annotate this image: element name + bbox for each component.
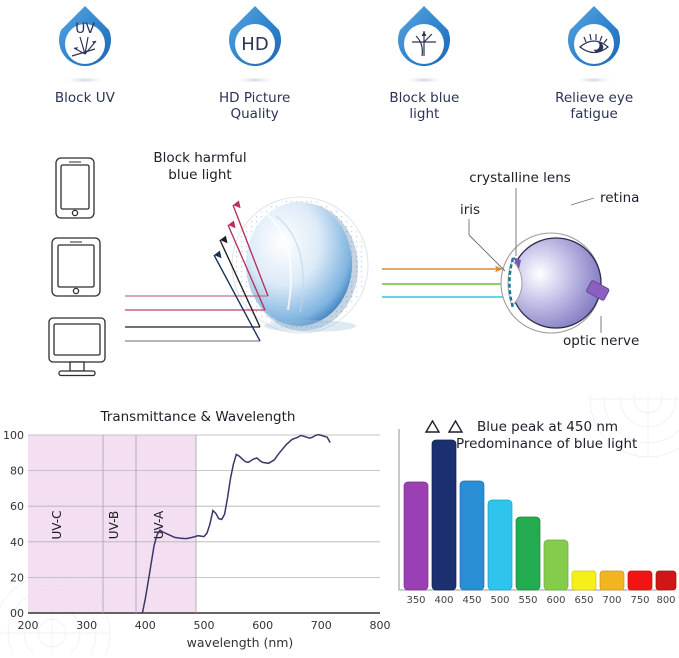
chart-title-transmittance: Transmittance & Wavelength xyxy=(100,409,296,425)
feature-label: Block UV xyxy=(55,90,115,106)
feature-block-uv: UV Block UV xyxy=(0,0,170,140)
bars xyxy=(404,440,676,590)
blue-light-callout-line1: Block harmful xyxy=(153,150,246,166)
bar-600 xyxy=(544,540,568,590)
band-label-uv-b: UV-B xyxy=(107,511,121,539)
svg-text:800: 800 xyxy=(370,619,391,632)
uv-shield-icon: UV xyxy=(47,4,123,84)
svg-text:800: 800 xyxy=(656,595,675,606)
feature-label: Block bluelight xyxy=(389,90,459,122)
svg-text:400: 400 xyxy=(434,595,453,606)
label-iris: iris xyxy=(460,202,480,218)
annotation-predominance: Predominance of blue light xyxy=(456,436,637,452)
svg-text:80: 80 xyxy=(10,465,24,478)
bar-550 xyxy=(516,517,540,590)
monitor-icon xyxy=(49,318,105,376)
label-retina: retina xyxy=(600,190,639,206)
transmittance-chart: Transmittance & Wavelength 10080 xyxy=(3,409,391,650)
svg-text:650: 650 xyxy=(574,595,593,606)
tablet-icon xyxy=(52,238,100,296)
bar-650 xyxy=(572,571,596,590)
bar-500 xyxy=(488,500,512,590)
feature-label: HD PictureQuality xyxy=(219,90,290,122)
eyeball xyxy=(501,233,610,333)
svg-text:100: 100 xyxy=(3,429,24,442)
peak-markers xyxy=(426,421,462,432)
bar-750 xyxy=(628,571,652,590)
bar-400 xyxy=(432,440,456,590)
charts-row: Transmittance & Wavelength 10080 xyxy=(0,395,679,654)
svg-text:600: 600 xyxy=(546,595,565,606)
band-label-uv-a: UV-A xyxy=(152,510,166,539)
bar-800 xyxy=(656,571,676,590)
bar-450 xyxy=(460,481,484,590)
feature-row: UV Block UV HD xyxy=(0,0,679,140)
blue-light-icon xyxy=(386,4,462,84)
annotation-blue-peak: Blue peak at 450 nm xyxy=(477,419,618,435)
hd-icon: HD xyxy=(217,4,293,84)
svg-text:300: 300 xyxy=(76,619,97,632)
band-label-uv-c: UV-C xyxy=(50,511,64,540)
svg-text:400: 400 xyxy=(135,619,156,632)
svg-text:20: 20 xyxy=(10,571,24,584)
svg-text:450: 450 xyxy=(462,595,481,606)
feature-label: Relieve eyefatigue xyxy=(555,90,633,122)
band-uv-c xyxy=(28,435,103,613)
svg-text:HD: HD xyxy=(241,34,268,55)
phone-icon xyxy=(56,158,94,218)
blue-peak-bar-chart: 350400 450500 550600 650700 750800 Blue … xyxy=(399,419,676,606)
feature-block-blue-light: Block bluelight xyxy=(340,0,510,140)
x-axis-label-left: wavelength (nm) xyxy=(187,635,294,650)
blue-light-lens xyxy=(232,197,368,333)
bar-350 xyxy=(404,482,428,590)
svg-text:200: 200 xyxy=(18,619,39,632)
svg-text:550: 550 xyxy=(518,595,537,606)
svg-text:60: 60 xyxy=(10,500,24,513)
lens-eye-diagram: Block harmful blue light xyxy=(0,140,679,395)
svg-text:750: 750 xyxy=(630,595,649,606)
blue-light-callout-line2: blue light xyxy=(168,167,231,183)
feature-hd-picture: HD HD PictureQuality xyxy=(170,0,340,140)
label-optic-nerve: optic nerve xyxy=(563,333,639,349)
svg-text:500: 500 xyxy=(194,619,215,632)
eye-moon-icon xyxy=(556,4,632,84)
svg-text:700: 700 xyxy=(311,619,332,632)
svg-text:350: 350 xyxy=(406,595,425,606)
svg-text:700: 700 xyxy=(602,595,621,606)
bar-700 xyxy=(600,571,624,590)
svg-text:UV: UV xyxy=(75,21,95,37)
label-crystalline-lens: crystalline lens xyxy=(469,170,571,186)
feature-relieve-eye-fatigue: Relieve eyefatigue xyxy=(509,0,679,140)
band-uv-a xyxy=(136,435,196,613)
svg-text:600: 600 xyxy=(252,619,273,632)
bar-x-tick-labels: 350400 450500 550600 650700 750800 xyxy=(406,595,675,606)
svg-text:500: 500 xyxy=(490,595,509,606)
svg-text:40: 40 xyxy=(10,536,24,549)
